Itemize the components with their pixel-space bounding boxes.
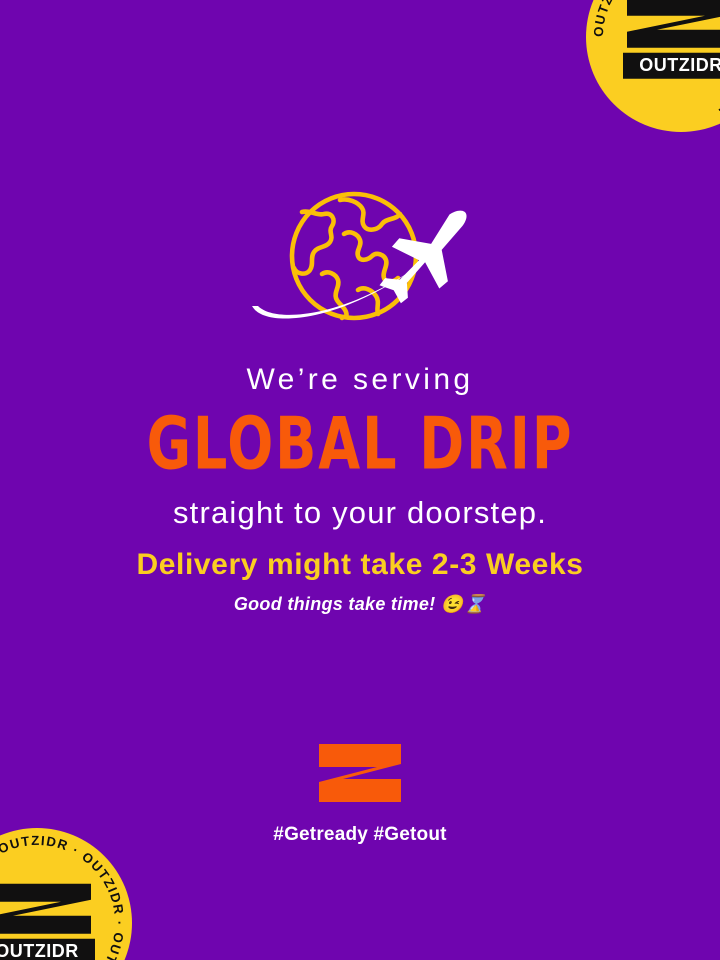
badge-core-bottom-left: OUTZIDR — [0, 882, 95, 960]
outzidr-badge-bottom-left: OUTZIDR · OUTZIDR · OUTZIDR · OUTZIDR · … — [0, 828, 132, 960]
delivery-note: Good things take time! 😉⌛ — [0, 595, 720, 615]
badge-z-mark-top-right — [623, 0, 720, 50]
delivery-block: Delivery might take 2-3 Weeks Good thing… — [0, 548, 720, 615]
poster-canvas: OUTZIDR · OUTZIDR · OUTZIDR · OUTZIDR · … — [0, 0, 720, 960]
headline-block: We’re serving GLOBAL DRIP straight to yo… — [0, 364, 720, 529]
delivery-estimate: Delivery might take 2-3 Weeks — [0, 548, 720, 581]
headline-subtitle: straight to your doorstep. — [0, 497, 720, 530]
badge-wordmark-bottom-left: OUTZIDR — [0, 939, 95, 960]
globe-airplane-icon — [0, 186, 720, 336]
footer-hashtags: #Getready #Getout — [0, 824, 720, 846]
outzidr-z-logo — [319, 744, 401, 802]
outzidr-badge-top-right: OUTZIDR · OUTZIDR · OUTZIDR · OUTZIDR · … — [586, 0, 720, 132]
badge-wordmark-top-right: OUTZIDR — [623, 53, 720, 79]
badge-z-mark-bottom-left — [0, 882, 95, 936]
footer-block: #Getready #Getout — [0, 744, 720, 846]
badge-core-top-right: OUTZIDR — [623, 0, 720, 78]
headline-title: GLOBAL DRIP — [11, 408, 709, 480]
headline-eyebrow: We’re serving — [0, 364, 720, 396]
